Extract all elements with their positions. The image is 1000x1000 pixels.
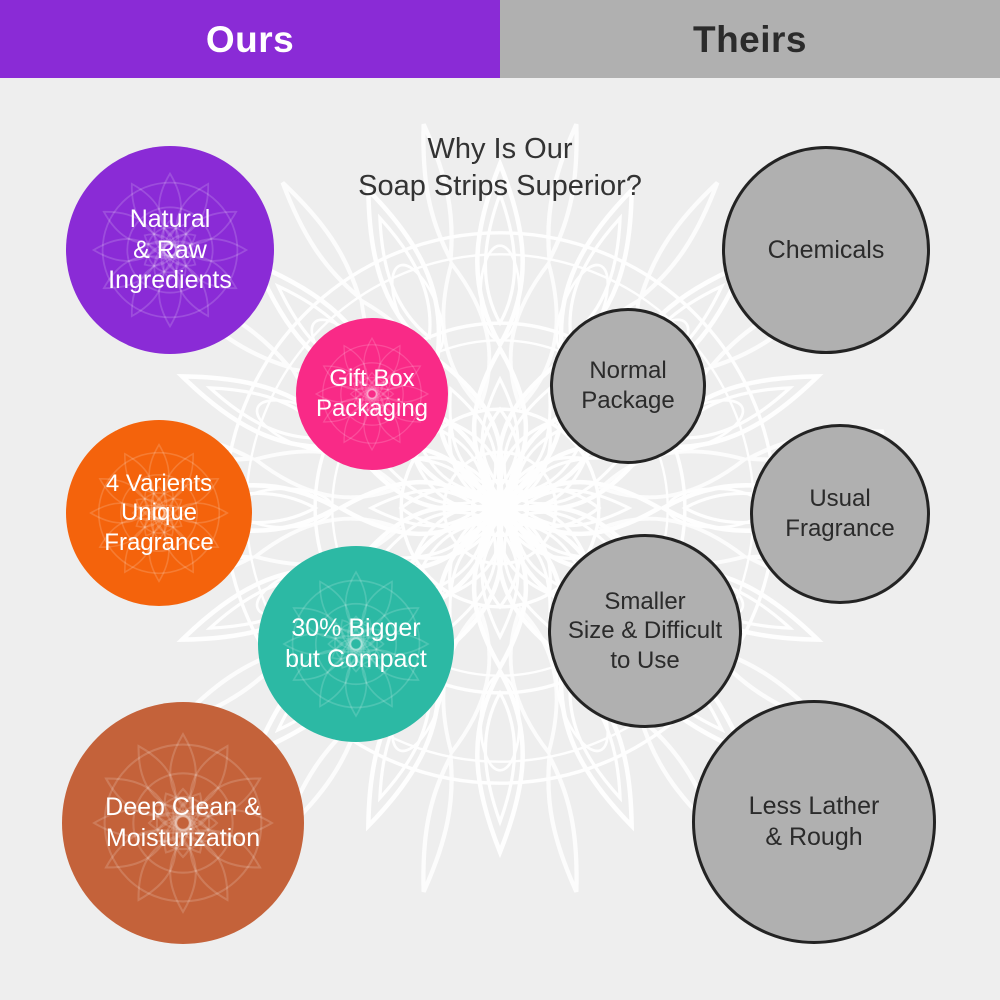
bubble-label: Less Lather & Rough (743, 791, 886, 853)
header-theirs-panel: Theirs (500, 0, 1000, 78)
bubble-natural-raw-ingredients[interactable]: Natural & Raw Ingredients (66, 146, 274, 354)
bubble-normal-package[interactable]: Normal Package (550, 308, 706, 464)
bubble-deep-clean-moisturization[interactable]: Deep Clean & Moisturization (62, 702, 304, 944)
comparison-header: Ours Theirs (0, 0, 1000, 78)
bubble-thirty-percent-bigger-compact[interactable]: 30% Bigger but Compact (258, 546, 454, 742)
bubble-less-lather-rough[interactable]: Less Lather & Rough (692, 700, 936, 944)
bubble-label: 4 Varients Unique Fragrance (98, 469, 219, 558)
bubble-four-varients-unique-fragrance[interactable]: 4 Varients Unique Fragrance (66, 420, 252, 606)
header-theirs-label: Theirs (693, 21, 807, 58)
bubble-usual-fragrance[interactable]: Usual Fragrance (750, 424, 930, 604)
bubble-label: Gift Box Packaging (310, 364, 434, 423)
header-ours-label: Ours (206, 21, 294, 58)
bubble-gift-box-packaging[interactable]: Gift Box Packaging (296, 318, 448, 470)
infographic-canvas: Ours Theirs (0, 0, 1000, 1000)
bubble-label: 30% Bigger but Compact (279, 613, 433, 675)
bubble-label: Deep Clean & Moisturization (99, 792, 267, 854)
header-ours-panel: Ours (0, 0, 500, 78)
bubble-label: Usual Fragrance (779, 484, 900, 543)
bubble-smaller-size-difficult[interactable]: Smaller Size & Difficult to Use (548, 534, 742, 728)
bubble-label: Normal Package (575, 356, 680, 415)
bubble-label: Natural & Raw Ingredients (102, 204, 238, 296)
bubble-label: Chemicals (762, 235, 891, 266)
bubble-chemicals[interactable]: Chemicals (722, 146, 930, 354)
bubble-label: Smaller Size & Difficult to Use (562, 587, 728, 676)
